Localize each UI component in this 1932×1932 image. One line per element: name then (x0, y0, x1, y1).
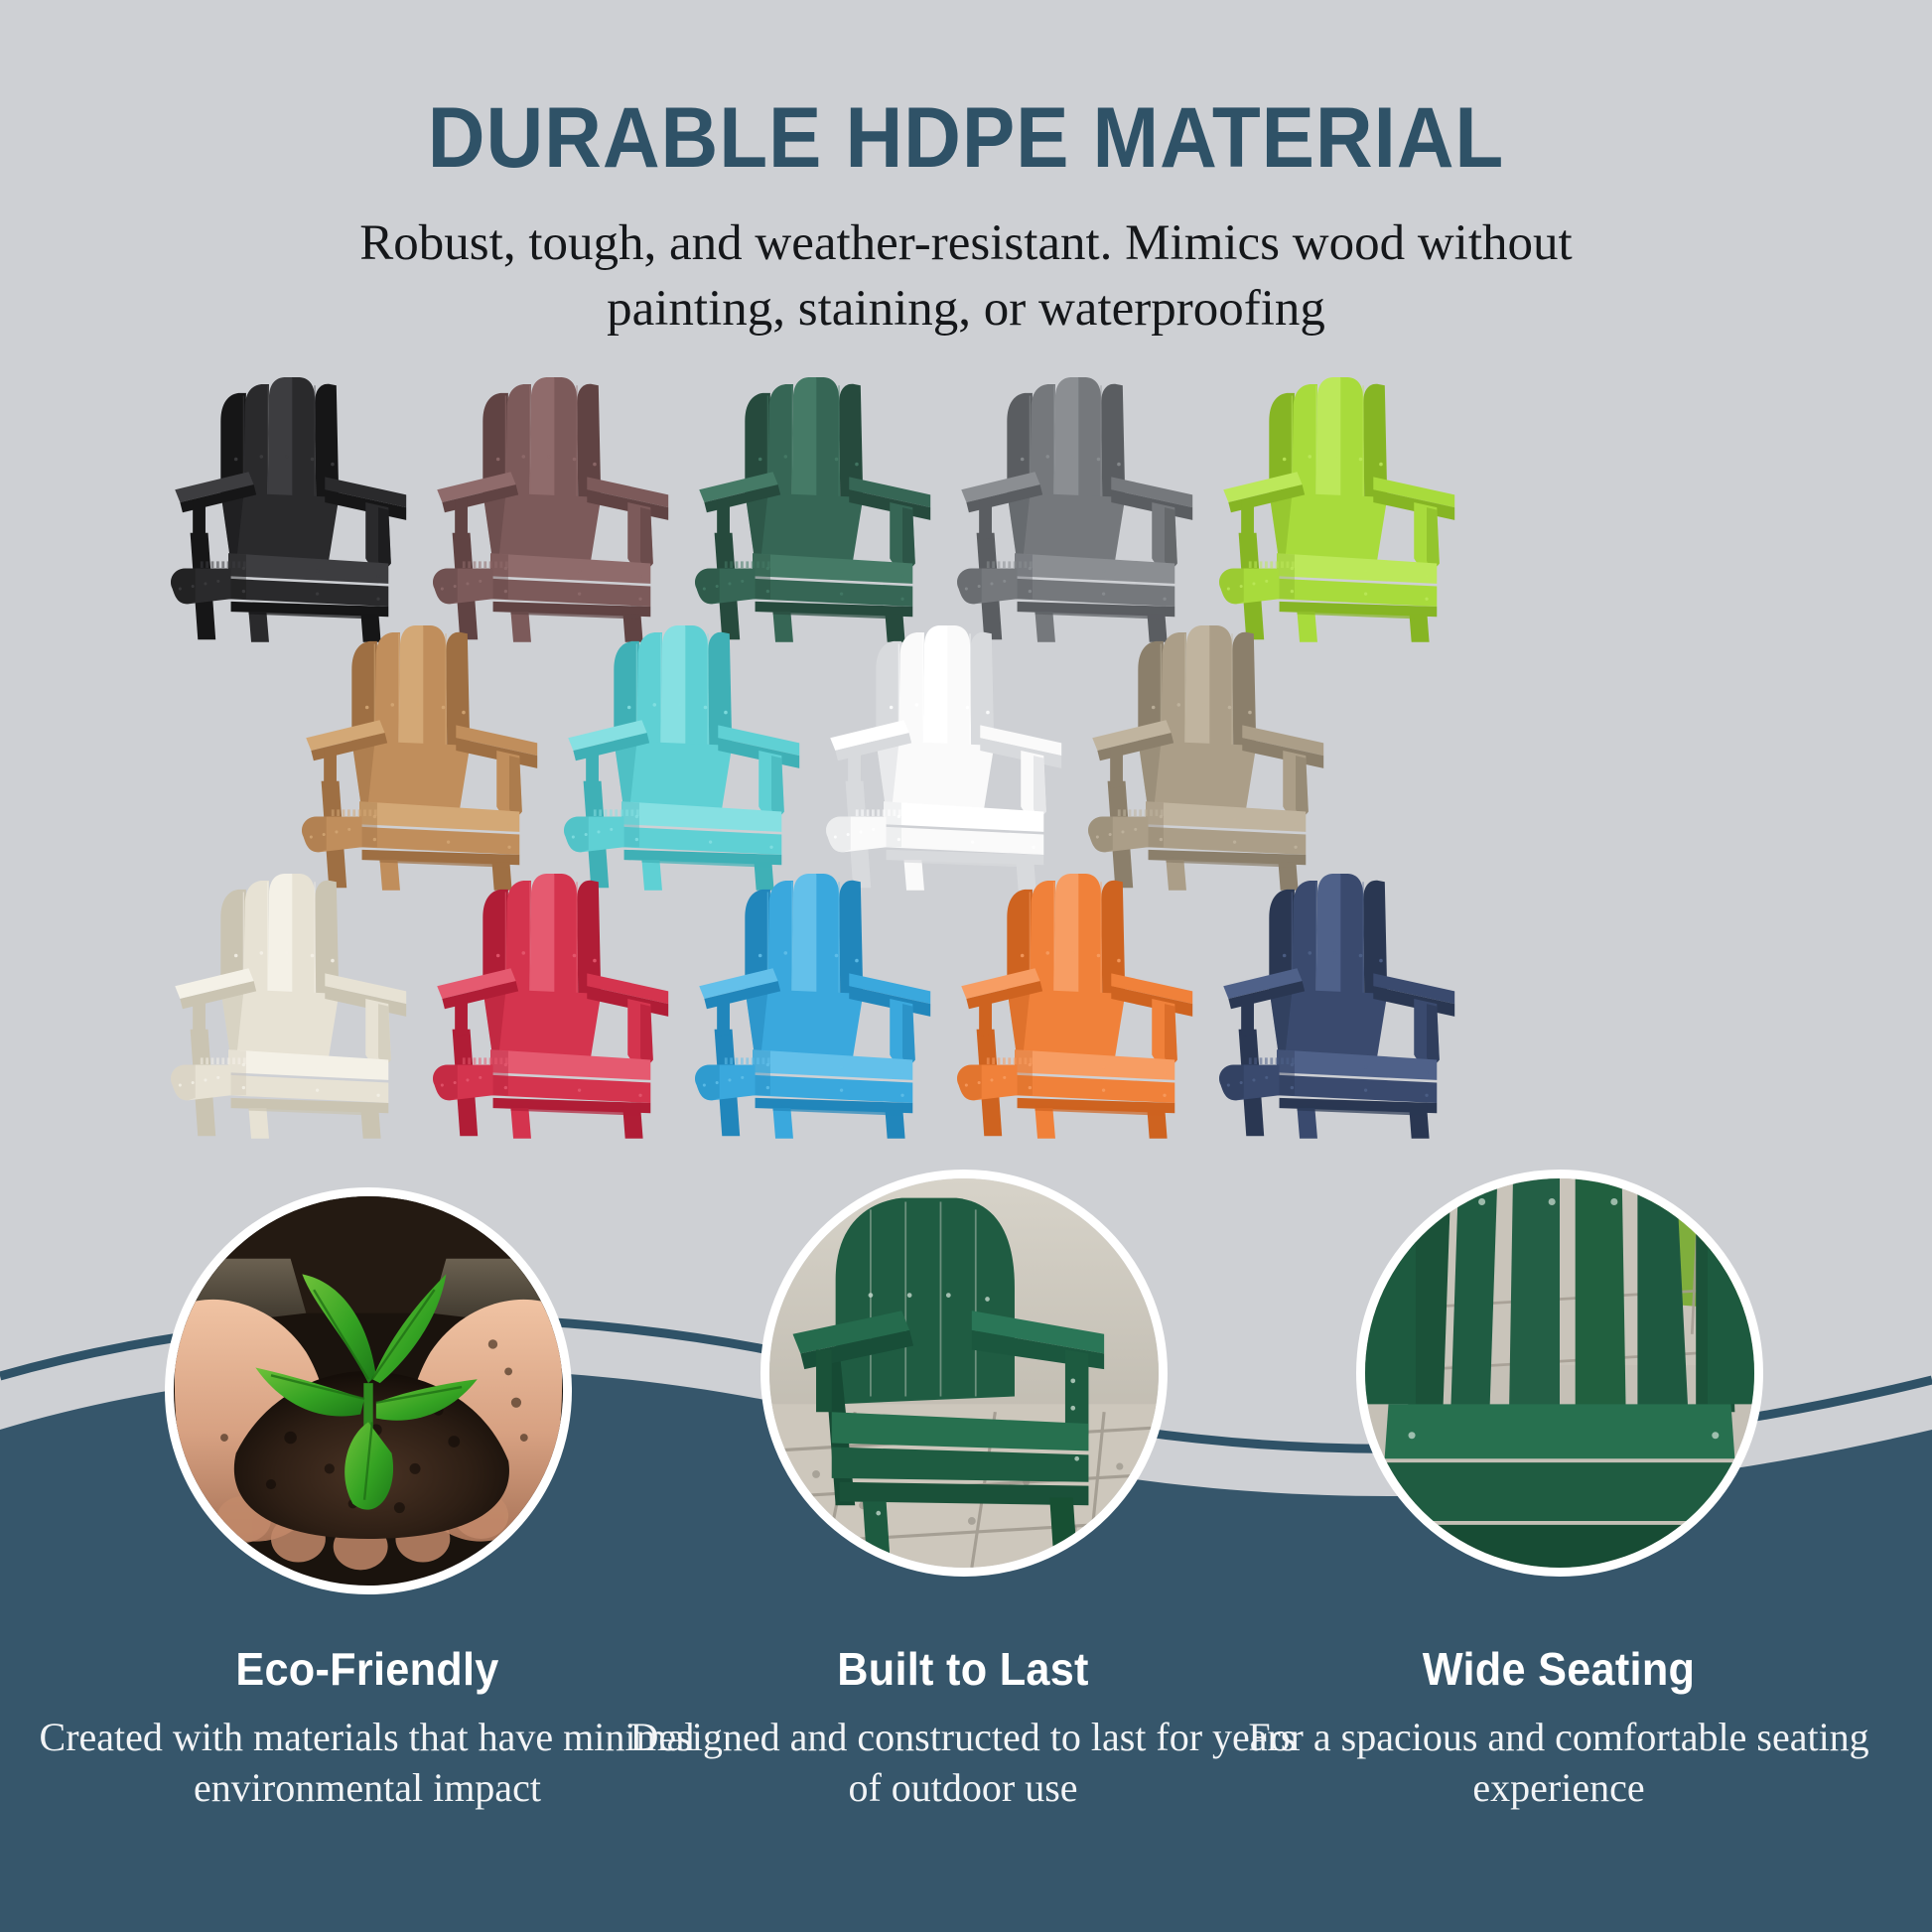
back-bolt-2 (259, 951, 263, 955)
back-bolt-2 (521, 455, 525, 459)
armrest-right-edge (1111, 489, 1192, 520)
seat-bolt-1 (1291, 567, 1294, 570)
seat-bolt-6 (1364, 592, 1367, 595)
back-lower-shadow (1138, 741, 1161, 814)
arm-support-right (496, 751, 522, 817)
seat-bolt-6 (316, 592, 319, 595)
seat-slat-upper (228, 553, 388, 584)
back-slat-3 (268, 377, 292, 502)
arm-left (1365, 1241, 1416, 1405)
arm-support-left (979, 497, 992, 541)
seat-apron (756, 1098, 913, 1113)
bracket-bolt-1 (441, 588, 444, 591)
seat-bolt-6 (1102, 1088, 1105, 1091)
chair-cell-khaki (1088, 625, 1323, 891)
arm-support-right-shade (1427, 1004, 1440, 1064)
back-slat-5 (1101, 384, 1125, 502)
armrest-right-top (456, 725, 537, 756)
seat-bolt-3 (1425, 1071, 1428, 1074)
back-bolt-2 (1045, 951, 1049, 955)
seat-bolt-4 (1425, 598, 1428, 601)
feature-description: Created with materials that have minimal… (30, 1696, 705, 1813)
back-lower-shadow (220, 492, 243, 566)
armrest-right-top (1111, 477, 1192, 507)
armrest-left-top (1092, 720, 1171, 751)
seat-bolt-3 (638, 575, 641, 578)
armrest-right-top (587, 973, 668, 1004)
back-slat-5 (1363, 384, 1387, 502)
front-leg-left (903, 860, 923, 891)
armrest-right-top (587, 477, 668, 507)
arm-support-right-shade (640, 1004, 653, 1064)
seat-bolt-3 (638, 1071, 641, 1074)
folding-bracket-shade (171, 569, 196, 605)
bracket-bolt-3 (335, 830, 338, 833)
back-slat-1 (220, 393, 246, 497)
seat-slat-upper (490, 553, 650, 584)
back-bolt-4 (1097, 954, 1101, 958)
seat-slat-lower (228, 1075, 388, 1103)
seat-bolt-1 (242, 1063, 245, 1066)
armrest-left-edge (835, 733, 911, 760)
back-bolt-2 (390, 703, 394, 707)
back-slat-2 (505, 881, 531, 996)
back-bolt-4 (966, 706, 970, 710)
back-bolt-4 (1359, 954, 1363, 958)
folding-bracket (302, 817, 362, 853)
back-slat-1 (1007, 890, 1033, 994)
back-bolt-5 (1379, 463, 1383, 467)
bracket-bolt-1 (441, 1084, 444, 1087)
back-bolt-3 (809, 455, 813, 459)
chair-black (171, 377, 406, 642)
back-slat-2 (636, 632, 662, 748)
seat-slat-upper (1277, 553, 1437, 584)
armrest-right-edge (980, 738, 1061, 768)
back-bolt-1 (890, 706, 894, 710)
bracket-bolt-4 (741, 1076, 744, 1079)
seat-bolt-4 (1425, 1094, 1428, 1097)
seat-bolt-6 (840, 1088, 843, 1091)
seat-apron (231, 602, 389, 617)
back-bolt-4 (835, 954, 839, 958)
folding-bracket (695, 1065, 756, 1101)
back-lower-shadow (614, 741, 636, 814)
back-slat-4 (685, 625, 709, 751)
back-bolt-5 (855, 959, 859, 963)
rear-leg-left (191, 1030, 216, 1137)
seat-bolt-3 (1163, 1071, 1166, 1074)
rear-leg-left (322, 781, 347, 889)
back-bolt-2 (1045, 455, 1049, 459)
armrest-left-top (175, 472, 253, 502)
chair-turquoise (564, 625, 799, 891)
hinge-teeth (1249, 561, 1295, 568)
leg-stretcher (379, 858, 509, 868)
arm-support-right-shade (378, 507, 391, 568)
back-bolt-3 (1071, 951, 1075, 955)
bracket-bolt-2 (978, 1081, 981, 1084)
seat-bolt-2 (504, 1086, 507, 1089)
front-leg-right (491, 858, 511, 891)
back-slat-5 (577, 881, 601, 999)
back-slat-1 (483, 393, 508, 497)
folding-bracket-shade (302, 817, 327, 853)
seat-bolt-2 (766, 1086, 769, 1089)
folding-bracket-shade (564, 817, 589, 853)
rear-leg-left (846, 781, 872, 889)
seat-slat-lower (1381, 1462, 1739, 1521)
arm-support-right (365, 502, 391, 569)
seat-bolt-3 (1032, 823, 1035, 826)
seat-bolt-5 (447, 817, 450, 820)
seat-left-shadow (621, 801, 639, 847)
leg-stretcher (510, 610, 640, 620)
hinge-teeth (725, 561, 770, 568)
seat-slat-upper (228, 1049, 388, 1080)
back-bolt-4 (1359, 458, 1363, 462)
armrest-left-edge (180, 981, 256, 1009)
leg-stretcher (1035, 1106, 1165, 1116)
armrest-left-top (437, 472, 515, 502)
leg-stretcher (1297, 1106, 1427, 1116)
back-bolt-2 (783, 455, 787, 459)
back-slat-1 (745, 890, 770, 994)
back-bolt-5 (855, 463, 859, 467)
chair-cell-crimson-red (433, 874, 668, 1139)
arm-support-right-shade (1034, 756, 1046, 816)
back-bolt-5 (462, 711, 466, 715)
back-lower-panel (1007, 492, 1125, 569)
seat-apron (493, 602, 651, 617)
bracket-bolt-1 (1227, 1084, 1230, 1087)
back-slat-3 (399, 625, 423, 751)
bracket-bolt-1 (179, 588, 182, 591)
bracket-bolt-4 (741, 580, 744, 583)
rear-leg-left (191, 533, 216, 640)
back-bolt-5 (593, 959, 597, 963)
back-slat-1 (1138, 641, 1164, 746)
back-bolt-1 (496, 954, 500, 958)
front-leg-left (772, 612, 792, 642)
chair-cell-black (171, 377, 406, 642)
back-bolt-1 (627, 706, 631, 710)
back-slat-3 (1185, 625, 1209, 751)
back-bolt-1 (759, 458, 762, 462)
back-slat-1 (351, 641, 377, 746)
back-bolt-4 (311, 458, 315, 462)
folding-bracket (433, 1065, 493, 1101)
leg-stretcher (772, 610, 902, 620)
back-lower-shadow (1269, 492, 1292, 566)
back-slat-3 (530, 874, 554, 999)
seat-slat-upper (1146, 801, 1306, 832)
seat-bolt-1 (1029, 1063, 1032, 1066)
front-leg-left (641, 860, 661, 891)
arm-support-right-shade (902, 1004, 915, 1064)
arm-support-right-shade (1427, 507, 1440, 568)
seat-apron (887, 850, 1044, 865)
seat-left-shadow (490, 1049, 508, 1095)
arm-support-right-shade (1296, 756, 1309, 816)
arm-support-left (455, 994, 468, 1037)
front-leg-left (248, 612, 268, 642)
chair-mauve-brown (433, 377, 668, 642)
back-bolt-5 (1248, 711, 1252, 715)
folding-bracket (695, 569, 756, 605)
seat-slat-lower (621, 827, 781, 855)
seat-bolt-4 (900, 598, 903, 601)
arm-support-right (627, 999, 653, 1065)
armrest-left-top (306, 720, 384, 751)
armrest-right-edge (587, 489, 668, 520)
hinge-teeth (725, 1057, 770, 1064)
bracket-bolt-1 (310, 836, 313, 839)
chair-gray (957, 377, 1192, 642)
seat-bolt-2 (766, 590, 769, 593)
seat-slat-lower (1015, 1075, 1174, 1103)
armrest-right-edge (1242, 738, 1323, 768)
front-leg-left (1166, 860, 1185, 891)
armrest-right-top (1373, 477, 1454, 507)
seat-slat-lower (359, 827, 519, 855)
leg-stretcher (510, 1106, 640, 1116)
back-bolt-3 (1202, 703, 1206, 707)
arm-support-right (365, 999, 391, 1065)
armrest-right-edge (325, 986, 406, 1017)
chair-dark-green (695, 377, 930, 642)
back-slat-2 (1030, 881, 1055, 996)
bracket-bolt-4 (1003, 580, 1006, 583)
front-leg-right (360, 1106, 380, 1139)
leg-stretcher (1166, 858, 1296, 868)
front-leg-left (1035, 1108, 1054, 1139)
folding-bracket (826, 817, 887, 853)
arm-support-right (890, 502, 915, 569)
back-slat-3 (792, 377, 816, 502)
back-bolt-3 (285, 951, 289, 955)
folding-bracket-shade (1219, 569, 1244, 605)
bracket-bolt-1 (965, 588, 968, 591)
armrest-right-top (1373, 973, 1454, 1004)
back-slat-5 (1232, 632, 1256, 751)
back-bolt-4 (442, 706, 446, 710)
front-leg-right (360, 610, 380, 642)
seat-bolt-4 (1032, 846, 1035, 849)
back-slat-1 (1269, 890, 1295, 994)
front-leg-left (379, 860, 399, 891)
seat-bolt-1 (242, 567, 245, 570)
bracket-bolt-1 (834, 836, 837, 839)
seat-bolt-5 (709, 817, 712, 820)
rear-leg-left (715, 1030, 741, 1137)
back-slat-1 (1269, 393, 1295, 497)
seat-slat-lower (1015, 579, 1174, 607)
hinge-teeth (1118, 809, 1164, 816)
seat-apron (362, 850, 520, 865)
back-lower-panel (1269, 989, 1387, 1065)
bracket-bolt-2 (716, 1081, 719, 1084)
arm-support-left (1110, 746, 1123, 789)
back-bolt-4 (835, 458, 839, 462)
seat-bolt-1 (766, 567, 769, 570)
seat-left-shadow (1015, 1049, 1033, 1095)
back-slat-4 (1340, 377, 1364, 502)
back-slat-2 (243, 881, 269, 996)
rear-leg-left (977, 1030, 1003, 1137)
armrest-right-edge (587, 986, 668, 1017)
front-leg-right (622, 610, 642, 642)
arm-support-right (627, 502, 653, 569)
bracket-bolt-3 (990, 582, 993, 585)
seat-bolt-5 (316, 569, 319, 572)
leg-stretcher (248, 610, 378, 620)
back-bolt-2 (521, 951, 525, 955)
seat-bolt-3 (900, 1071, 903, 1074)
back-slat-1 (1007, 393, 1033, 497)
bracket-bolt-2 (323, 833, 326, 836)
rear-leg-left (1239, 533, 1265, 640)
bracket-bolt-3 (859, 830, 862, 833)
back-slat-4 (1340, 874, 1364, 999)
bracket-bolt-2 (1109, 833, 1112, 836)
seat-apron (1280, 602, 1438, 617)
armrest-left-edge (704, 981, 780, 1009)
front-leg-right (885, 610, 904, 642)
bracket-bolt-4 (216, 580, 219, 583)
seat-bolt-1 (1291, 1063, 1294, 1066)
seat-apron (493, 1098, 651, 1113)
back-slat-4 (554, 874, 578, 999)
seat-bolt-2 (1291, 590, 1294, 593)
chair-orange (957, 874, 1192, 1139)
back-slat-1 (483, 890, 508, 994)
back-slat-4 (947, 625, 971, 751)
arm-support-left (586, 746, 599, 789)
seat-bolt-3 (1163, 575, 1166, 578)
back-bolt-2 (1308, 455, 1311, 459)
chair-lime-green (1219, 377, 1454, 642)
seat-left-shadow (228, 553, 246, 599)
back-bolt-3 (285, 455, 289, 459)
back-lower-panel (483, 492, 601, 569)
chair-crimson-red (433, 874, 668, 1139)
armrest-right-edge (1373, 489, 1454, 520)
seat-bolt-6 (1364, 1088, 1367, 1091)
armrest-left-top (437, 968, 515, 999)
bracket-bolt-3 (204, 1078, 207, 1081)
folding-bracket-shade (433, 1065, 458, 1101)
seat-slat-lower (1277, 1075, 1437, 1103)
back-lower-shadow (1269, 989, 1292, 1062)
back-slat-3 (661, 625, 685, 751)
seat-bolt-6 (1233, 840, 1236, 843)
seat-bolt-2 (242, 1086, 245, 1089)
seat-bolt-2 (635, 838, 638, 841)
arm-right (1708, 1241, 1754, 1405)
folding-bracket-shade (695, 569, 720, 605)
armrest-left-edge (1228, 981, 1305, 1009)
back-slat-4 (1078, 874, 1102, 999)
seat-bolt-3 (1425, 575, 1428, 578)
seat-slat-upper (1015, 1049, 1174, 1080)
back-slat-2 (898, 632, 924, 748)
front-leg-right (885, 1106, 904, 1139)
back-lower-panel (1269, 492, 1387, 569)
seat-slat-lower (753, 1075, 912, 1103)
bracket-bolt-1 (572, 836, 575, 839)
feature-heading: Wide Seating (1241, 1642, 1875, 1696)
back-slat-2 (505, 384, 531, 499)
arm-support-right-shade (1165, 1004, 1177, 1064)
back-slat-1 (220, 890, 246, 994)
back-slat-5 (970, 632, 994, 751)
folding-bracket-shade (171, 1065, 196, 1101)
hinge-teeth (332, 809, 377, 816)
seat-bolt-1 (1160, 815, 1163, 818)
armrest-right-top (1242, 725, 1323, 756)
hinge-teeth (987, 1057, 1033, 1064)
chair-khaki (1088, 625, 1323, 891)
arm-support-right-shade (1165, 507, 1177, 568)
seat-bolt-6 (840, 592, 843, 595)
leg-stretcher (1035, 610, 1165, 620)
seat-bolt-4 (376, 598, 379, 601)
seat-bolt-5 (1364, 1065, 1367, 1068)
seat-left-shadow (1146, 801, 1164, 847)
armrest-left-top (1223, 968, 1302, 999)
back-slat-2 (1292, 384, 1317, 499)
seat-bolt-1 (504, 1063, 507, 1066)
folding-bracket (171, 569, 231, 605)
back-bolt-1 (1021, 954, 1025, 958)
bracket-bolt-2 (1240, 1081, 1243, 1084)
seat-left-shadow (884, 801, 901, 847)
back-slat-5 (577, 384, 601, 502)
chair-ivory (171, 874, 406, 1139)
armrest-left-top (961, 472, 1039, 502)
seat-bolt-3 (376, 1071, 379, 1074)
rear-leg-left (1108, 781, 1134, 889)
back-slat-2 (1161, 632, 1186, 748)
chair-sky-blue (695, 874, 930, 1139)
bracket-bolt-3 (728, 582, 731, 585)
seat-slat-upper (359, 801, 519, 832)
back-slat-4 (554, 377, 578, 502)
armrest-right-edge (849, 489, 930, 520)
rear-leg-left (584, 781, 610, 889)
back-bolt-5 (986, 711, 990, 715)
back-bolt-1 (234, 458, 238, 462)
back-lower-shadow (483, 989, 505, 1062)
back-slat-3 (1054, 377, 1078, 502)
back-lower-shadow (745, 989, 767, 1062)
back-lower-shadow (220, 989, 243, 1062)
armrest-right-edge (1111, 986, 1192, 1017)
arm-support-right (1152, 999, 1177, 1065)
back-bolt-3 (940, 703, 944, 707)
folding-bracket-shade (957, 569, 982, 605)
back-slat-5 (708, 632, 732, 751)
back-lower-panel (876, 741, 994, 817)
seat-apron (624, 850, 782, 865)
front-leg-right (1016, 858, 1035, 891)
seat-bolt-2 (373, 838, 376, 841)
seat-slat-upper (1015, 553, 1174, 584)
back-bolt-3 (678, 703, 682, 707)
chair-cell-ivory (171, 874, 406, 1139)
back-slat-2 (767, 881, 793, 996)
